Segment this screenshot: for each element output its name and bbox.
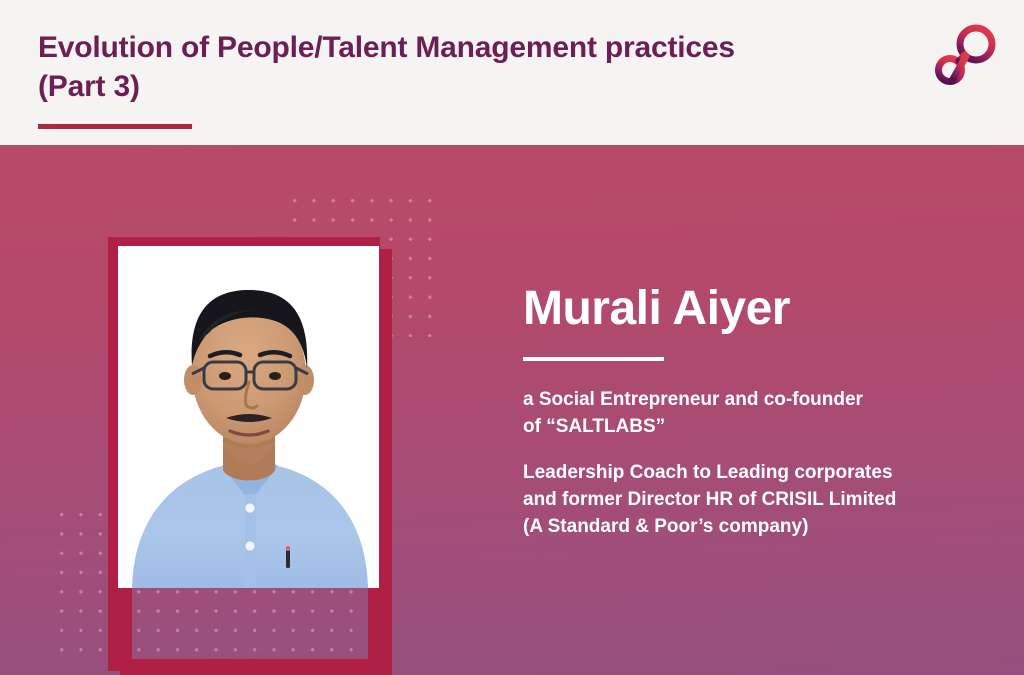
speaker-bio: Leadership Coach to Leading corporates a… (523, 460, 993, 541)
avatar (118, 246, 379, 588)
portrait-image (118, 246, 379, 588)
speaker-name: Murali Aiyer (523, 285, 993, 333)
speaker-photo-block (108, 237, 392, 675)
title-underline-rule (38, 124, 192, 129)
infinity-loop-logo (932, 20, 1000, 90)
name-underline-rule (523, 357, 664, 361)
slide-body: Murali Aiyer a Social Entrepreneur and c… (0, 145, 1024, 675)
speaker-role: a Social Entrepreneur and co-founder of … (523, 387, 993, 441)
slide-title: Evolution of People/Talent Management pr… (38, 28, 918, 106)
speaker-info: Murali Aiyer a Social Entrepreneur and c… (523, 285, 993, 541)
presentation-slide: Evolution of People/Talent Management pr… (0, 0, 1024, 675)
slide-header: Evolution of People/Talent Management pr… (0, 0, 1024, 145)
